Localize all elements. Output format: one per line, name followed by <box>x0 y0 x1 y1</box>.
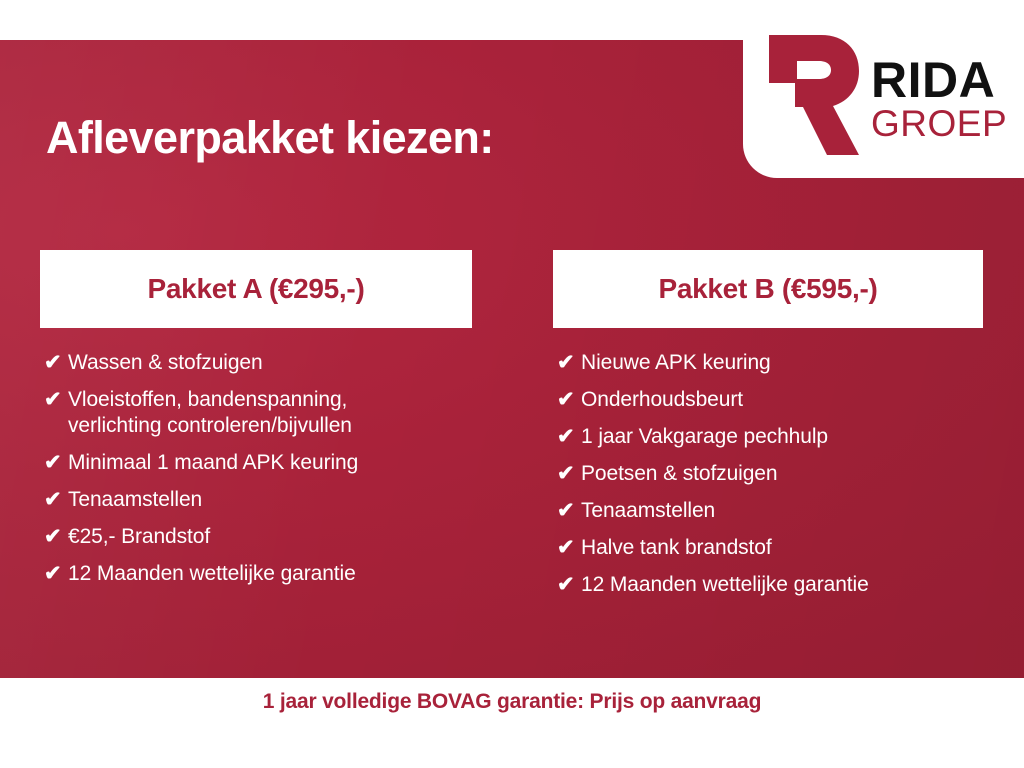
feature-label: Vloeistoffen, bandenspanning, verlichtin… <box>68 387 352 439</box>
logo-secondary-text: GROEP <box>871 103 1007 144</box>
package-card-pakket-b[interactable]: Pakket B (€595,-) ✔ Nieuwe APK keuring ✔… <box>553 250 983 609</box>
feature-label: 12 Maanden wettelijke garantie <box>581 572 869 598</box>
feature-item: ✔ Nieuwe APK keuring <box>553 350 983 376</box>
check-icon: ✔ <box>40 350 68 376</box>
feature-label: Tenaamstellen <box>68 487 202 513</box>
check-icon: ✔ <box>40 387 68 413</box>
feature-item: ✔ 12 Maanden wettelijke garantie <box>40 561 472 587</box>
feature-label: Nieuwe APK keuring <box>581 350 771 376</box>
package-header-pakket-b[interactable]: Pakket B (€595,-) <box>553 250 983 328</box>
feature-item: ✔ Poetsen & stofzuigen <box>553 461 983 487</box>
package-title-pakket-b: Pakket B (€595,-) <box>658 273 877 305</box>
feature-item: ✔ Onderhoudsbeurt <box>553 387 983 413</box>
package-title-pakket-a: Pakket A (€295,-) <box>148 273 365 305</box>
check-icon: ✔ <box>40 561 68 587</box>
logo-primary-text: RIDA <box>871 52 995 108</box>
feature-label-line: Vloeistoffen, bandenspanning, <box>68 387 352 413</box>
slide-canvas: Afleverpakket kiezen: RIDA GROEP Pakket … <box>0 0 1024 768</box>
package-card-pakket-a[interactable]: Pakket A (€295,-) ✔ Wassen & stofzuigen … <box>40 250 472 598</box>
check-icon: ✔ <box>553 350 581 376</box>
check-icon: ✔ <box>553 461 581 487</box>
footer-note: 1 jaar volledige BOVAG garantie: Prijs o… <box>0 690 1024 714</box>
footer-band: 1 jaar volledige BOVAG garantie: Prijs o… <box>0 678 1024 768</box>
package-header-pakket-a[interactable]: Pakket A (€295,-) <box>40 250 472 328</box>
page-title: Afleverpakket kiezen: <box>46 112 494 164</box>
feature-label: €25,- Brandstof <box>68 524 210 550</box>
check-icon: ✔ <box>40 487 68 513</box>
feature-label: Onderhoudsbeurt <box>581 387 743 413</box>
feature-label: Poetsen & stofzuigen <box>581 461 777 487</box>
check-icon: ✔ <box>553 498 581 524</box>
feature-item: ✔ €25,- Brandstof <box>40 524 472 550</box>
feature-label: Tenaamstellen <box>581 498 715 524</box>
check-icon: ✔ <box>40 450 68 476</box>
feature-label: Halve tank brandstof <box>581 535 772 561</box>
brand-logo-plate: RIDA GROEP <box>743 0 1024 178</box>
feature-item: ✔ Vloeistoffen, bandenspanning, verlicht… <box>40 387 472 439</box>
rida-r-monogram-icon <box>765 33 861 157</box>
check-icon: ✔ <box>553 424 581 450</box>
feature-item: ✔ Tenaamstellen <box>40 487 472 513</box>
feature-label: 12 Maanden wettelijke garantie <box>68 561 356 587</box>
check-icon: ✔ <box>553 535 581 561</box>
feature-label: 1 jaar Vakgarage pechhulp <box>581 424 828 450</box>
feature-label: Minimaal 1 maand APK keuring <box>68 450 358 476</box>
feature-item: ✔ 12 Maanden wettelijke garantie <box>553 572 983 598</box>
feature-label: Wassen & stofzuigen <box>68 350 263 376</box>
check-icon: ✔ <box>553 387 581 413</box>
feature-label-line: verlichting controleren/bijvullen <box>68 413 352 439</box>
check-icon: ✔ <box>553 572 581 598</box>
feature-item: ✔ Wassen & stofzuigen <box>40 350 472 376</box>
feature-list-pakket-b: ✔ Nieuwe APK keuring ✔ Onderhoudsbeurt ✔… <box>553 328 983 598</box>
feature-item: ✔ Minimaal 1 maand APK keuring <box>40 450 472 476</box>
feature-item: ✔ 1 jaar Vakgarage pechhulp <box>553 424 983 450</box>
feature-item: ✔ Tenaamstellen <box>553 498 983 524</box>
feature-item: ✔ Halve tank brandstof <box>553 535 983 561</box>
feature-list-pakket-a: ✔ Wassen & stofzuigen ✔ Vloeistoffen, ba… <box>40 328 472 587</box>
check-icon: ✔ <box>40 524 68 550</box>
